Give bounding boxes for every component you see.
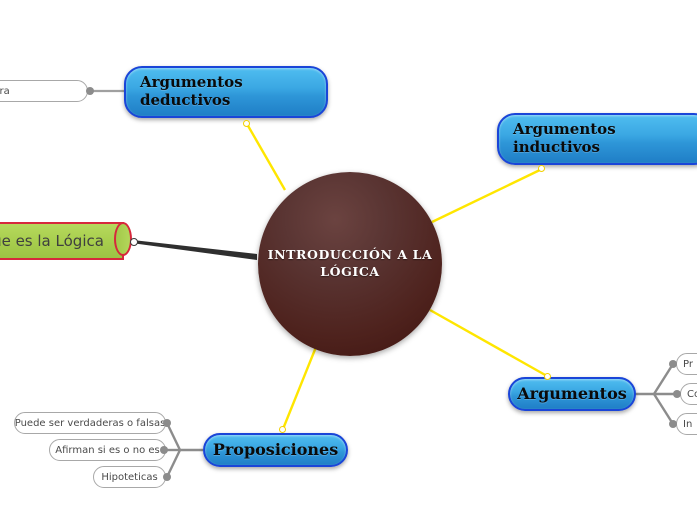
dot-proposiciones-sub-3 xyxy=(163,473,171,481)
anchor-deductivos xyxy=(243,120,250,127)
edge-proposiciones-sub-1 xyxy=(167,423,180,450)
node-argumentos-sub-3[interactable]: In xyxy=(676,413,697,435)
node-argumentos-inductivos[interactable]: Argumentos inductivos xyxy=(497,113,697,165)
node-proposiciones-sub-1[interactable]: Puede ser verdaderas o falsas xyxy=(14,412,166,434)
dot-argumentos-sub-1 xyxy=(669,360,677,368)
node-deductivos-sub-1-label: as de manera xyxy=(0,86,10,97)
edge-center-to-deductivos xyxy=(247,124,285,190)
edge-argumentos-sub-1 xyxy=(654,364,673,394)
node-proposiciones-sub-2-label: Afirman si es o no es xyxy=(55,445,159,456)
center-node[interactable]: INTRODUCCIÓN A LA LÓGICA xyxy=(258,172,442,356)
node-argumentos-sub-3-label: In xyxy=(683,419,692,430)
anchor-proposiciones xyxy=(279,426,286,433)
node-argumentos-sub-1[interactable]: Pr xyxy=(676,353,697,375)
center-node-label: INTRODUCCIÓN A LA LÓGICA xyxy=(268,247,433,281)
node-deductivos-sub-1[interactable]: as de manera xyxy=(0,80,88,102)
anchor-argumentos xyxy=(544,373,551,380)
edge-center-to-argumentos xyxy=(430,310,547,376)
dot-argumentos-sub-3 xyxy=(669,420,677,428)
node-proposiciones-sub-1-label: Puede ser verdaderas o falsas xyxy=(15,418,166,429)
dot-deductivos-sub-1 xyxy=(86,87,94,95)
dot-proposiciones-sub-2 xyxy=(160,446,168,454)
node-proposiciones-label: Proposiciones xyxy=(213,441,338,460)
node-argumentos-sub-2[interactable]: Co xyxy=(680,383,697,405)
node-proposiciones-sub-3[interactable]: Hipoteticas xyxy=(93,466,166,488)
node-proposiciones[interactable]: Proposiciones xyxy=(203,433,348,467)
mindmap-canvas: INTRODUCCIÓN A LA LÓGICA Argumentos dedu… xyxy=(0,0,697,520)
dot-proposiciones-sub-1 xyxy=(163,419,171,427)
anchor-logica xyxy=(130,238,138,246)
node-argumentos-inductivos-label: Argumentos inductivos xyxy=(513,121,616,156)
dot-argumentos-sub-2 xyxy=(673,390,681,398)
cylinder-cap xyxy=(114,222,132,256)
node-argumentos-deductivos-label: Argumentos deductivos xyxy=(140,74,243,109)
node-argumentos-sub-2-label: Co xyxy=(687,389,697,400)
edge-center-to-logica xyxy=(136,240,257,260)
node-argumentos-label: Argumentos xyxy=(517,385,626,404)
node-proposiciones-sub-2[interactable]: Afirman si es o no es xyxy=(49,439,166,461)
edge-center-to-inductivos xyxy=(432,169,542,222)
node-argumentos[interactable]: Argumentos xyxy=(508,377,636,411)
node-proposiciones-sub-3-label: Hipoteticas xyxy=(101,472,157,483)
edge-center-to-proposiciones xyxy=(283,347,316,429)
node-que-es-la-logica-label: ue es la Lógica xyxy=(0,232,104,250)
node-argumentos-deductivos[interactable]: Argumentos deductivos xyxy=(124,66,328,118)
node-argumentos-sub-1-label: Pr xyxy=(683,359,693,370)
anchor-inductivos xyxy=(538,165,545,172)
node-que-es-la-logica[interactable]: ue es la Lógica xyxy=(0,222,124,260)
